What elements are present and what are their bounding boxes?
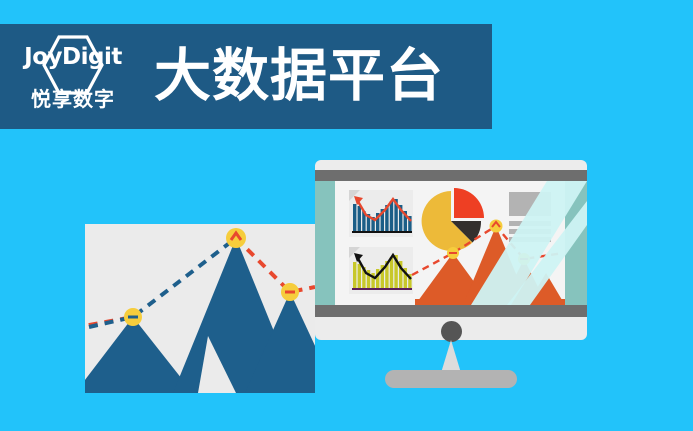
monitor-stand-base [385,370,517,388]
monitor-power-button[interactable] [441,321,462,342]
monitor-illustration [315,160,587,340]
left-mountain-panel [85,224,315,393]
monitor-screen [315,181,587,305]
orange-mountain-chart [315,181,587,305]
logo-subtitle: 悦享数字 [31,83,115,112]
left-mountain-chart [85,224,315,393]
monitor-bezel-top [315,170,587,181]
monitor-bezel-bottom [315,305,587,317]
illustration-canvas: JoyDigit 悦享数字 大数据平台 [0,0,693,431]
logo-wordmark: JoyDigit [24,46,122,69]
mountain-shape-small-left [85,317,193,393]
header-banner: JoyDigit 悦享数字 大数据平台 [0,24,492,129]
monitor-stand-neck [412,340,490,373]
page-title: 大数据平台 [154,48,444,105]
brand-logo: JoyDigit 悦享数字 [14,31,132,123]
